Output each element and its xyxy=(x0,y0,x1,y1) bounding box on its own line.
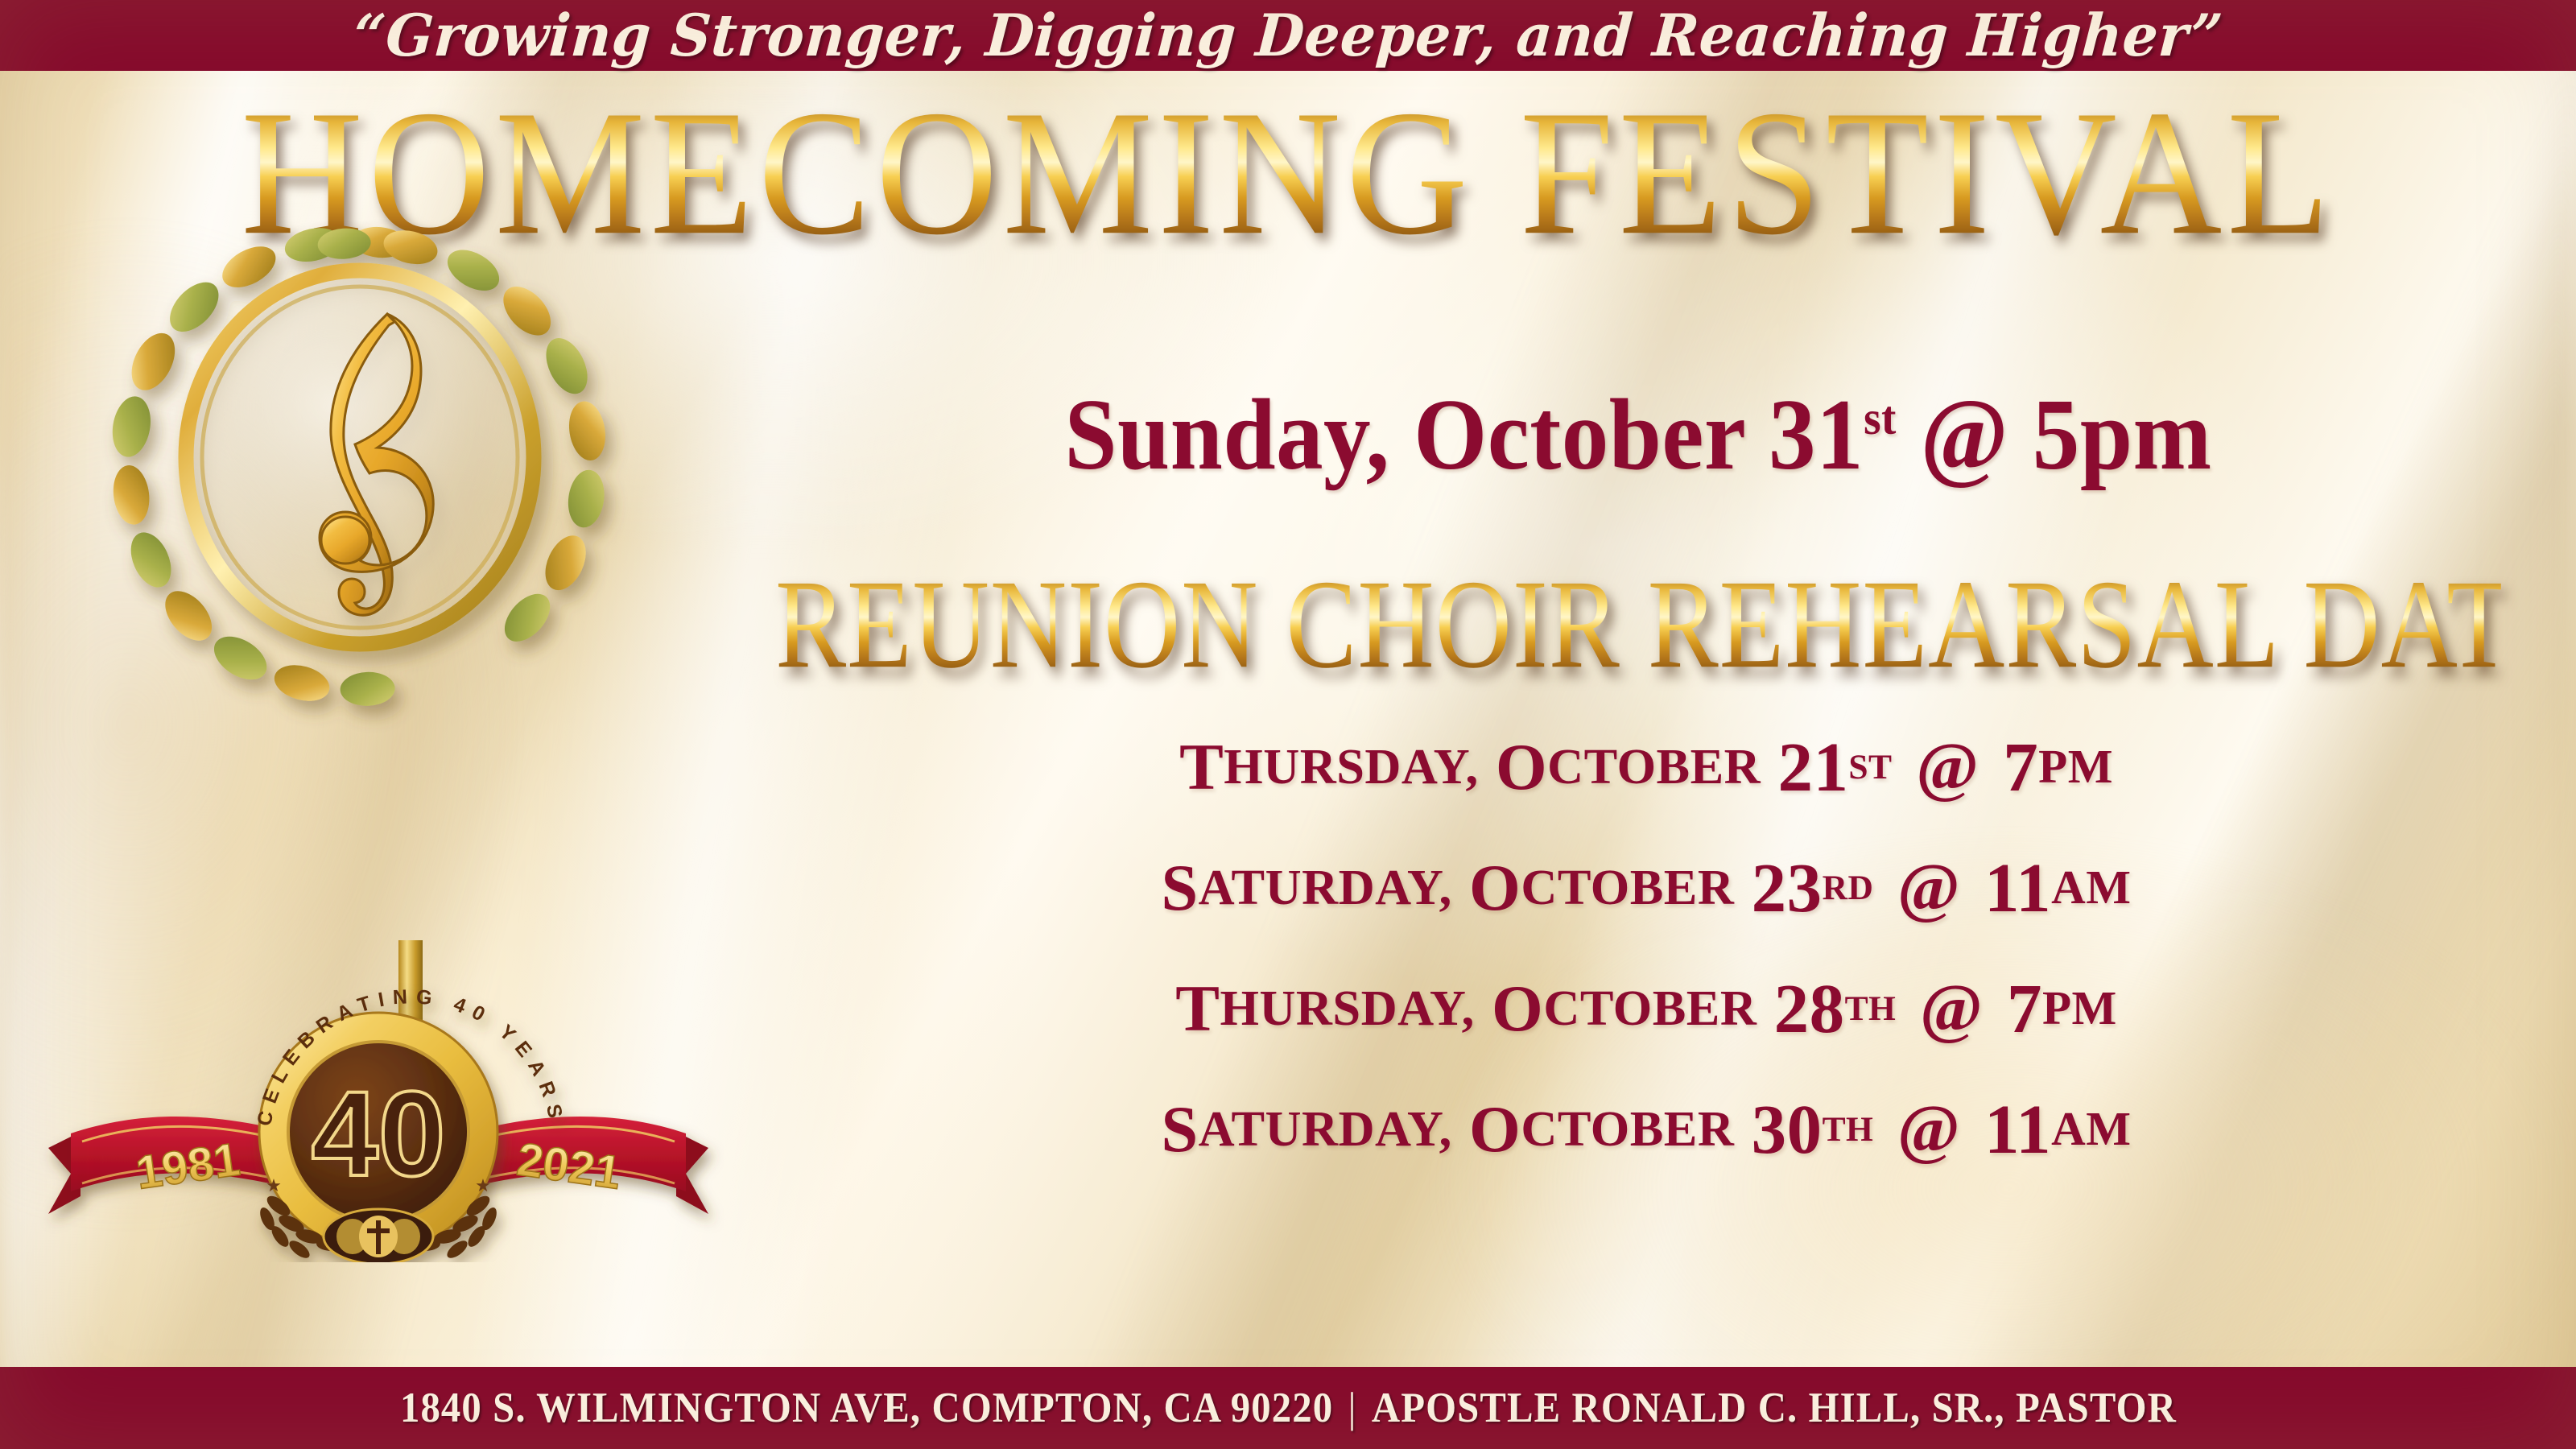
seal-center-number: 40 xyxy=(312,1066,446,1201)
footer-separator: | xyxy=(1333,1385,1372,1431)
tagline-bar: “Growing Stronger, Digging Deeper, and R… xyxy=(0,0,2576,71)
rehearsal-at-symbol: @ xyxy=(1913,975,1990,1042)
rehearsal-day-number: 23 xyxy=(1752,853,1823,923)
church-music-logo xyxy=(76,184,640,747)
rehearsal-day-initial: S xyxy=(1162,1096,1199,1162)
homecoming-festival-banner: “Growing Stronger, Digging Deeper, and R… xyxy=(0,0,2576,1449)
rehearsal-at-symbol: @ xyxy=(1909,733,1986,801)
rehearsal-time-number: 11 xyxy=(1984,1095,2051,1165)
main-event-ordinal: st xyxy=(1864,391,1897,444)
footer-pastor: APOSTLE RONALD C. HILL, SR., PASTOR xyxy=(1371,1385,2176,1431)
main-event-date: Sunday, October 31st @ 5pm xyxy=(811,385,2465,486)
rehearsal-time-number: 7 xyxy=(2003,733,2038,803)
rehearsal-month-rest: CTOBER xyxy=(1521,1104,1734,1154)
section-heading: REUNION CHOIR REHEARSAL DATES xyxy=(775,561,2501,688)
footer-bar: 1840 S. WILMINGTON AVE, COMPTON, CA 9022… xyxy=(0,1367,2576,1449)
footer-address: 1840 S. WILMINGTON AVE, COMPTON, CA 9022… xyxy=(400,1385,1333,1431)
footer-content: 1840 S. WILMINGTON AVE, COMPTON, CA 9022… xyxy=(400,1387,2177,1430)
rehearsal-meridiem: PM xyxy=(2038,743,2113,791)
anniversary-seal: CELEBRATING 40 YEARS ★ ★ xyxy=(32,940,724,1262)
rehearsal-at-symbol: @ xyxy=(1891,854,1967,922)
rehearsal-row: THURSDAY,OCTOBER28TH@7PM xyxy=(749,948,2544,1069)
rehearsal-meridiem: AM xyxy=(2051,1105,2131,1153)
rehearsal-month-rest: CTOBER xyxy=(1547,742,1761,792)
rehearsal-time-number: 11 xyxy=(1984,853,2051,923)
seal-star-left: ★ xyxy=(266,1175,282,1195)
main-event-time: @ 5pm xyxy=(1897,379,2212,491)
rehearsal-day-rest: ATURDAY, xyxy=(1199,1104,1452,1154)
rehearsal-day-rest: HURSDAY, xyxy=(1220,984,1474,1034)
rehearsal-row: SATURDAY,OCTOBER23RD@11AM xyxy=(749,828,2544,948)
rehearsal-dates-list: THURSDAY,OCTOBER21ST@7PM SATURDAY,OCTOBE… xyxy=(749,707,2544,1190)
tagline-text: “Growing Stronger, Digging Deeper, and R… xyxy=(352,6,2225,64)
seal-star-right: ★ xyxy=(475,1175,491,1195)
rehearsal-day-initial: S xyxy=(1162,855,1199,921)
rehearsal-row: THURSDAY,OCTOBER21ST@7PM xyxy=(749,707,2544,828)
rehearsal-day-rest: ATURDAY, xyxy=(1199,863,1452,913)
rehearsal-meridiem: PM xyxy=(2042,985,2117,1032)
rehearsal-time-number: 7 xyxy=(2007,974,2042,1044)
rehearsal-day-initial: T xyxy=(1175,976,1220,1042)
rehearsal-day-number: 28 xyxy=(1774,974,1845,1044)
rehearsal-meridiem: AM xyxy=(2051,864,2131,911)
rehearsal-month-initial: O xyxy=(1492,976,1543,1042)
rehearsal-month-initial: O xyxy=(1469,855,1521,921)
rehearsal-day-initial: T xyxy=(1179,734,1224,800)
rehearsal-month-initial: O xyxy=(1469,1096,1521,1162)
rehearsal-month-rest: CTOBER xyxy=(1543,984,1757,1034)
rehearsal-row: SATURDAY,OCTOBER30TH@11AM xyxy=(749,1069,2544,1190)
logo-wreath-group xyxy=(92,207,625,724)
rehearsal-day-number: 21 xyxy=(1777,733,1848,803)
main-event-date-text: Sunday, October 31 xyxy=(1064,379,1864,491)
main-content: HOMECOMING FESTIVAL xyxy=(0,71,2576,1367)
rehearsal-month-rest: CTOBER xyxy=(1521,863,1734,913)
rehearsal-month-initial: O xyxy=(1496,734,1547,800)
rehearsal-day-number: 30 xyxy=(1752,1095,1823,1165)
rehearsal-day-rest: HURSDAY, xyxy=(1224,742,1478,792)
church-globe-emblem xyxy=(324,1209,433,1262)
rehearsal-at-symbol: @ xyxy=(1891,1096,1967,1163)
